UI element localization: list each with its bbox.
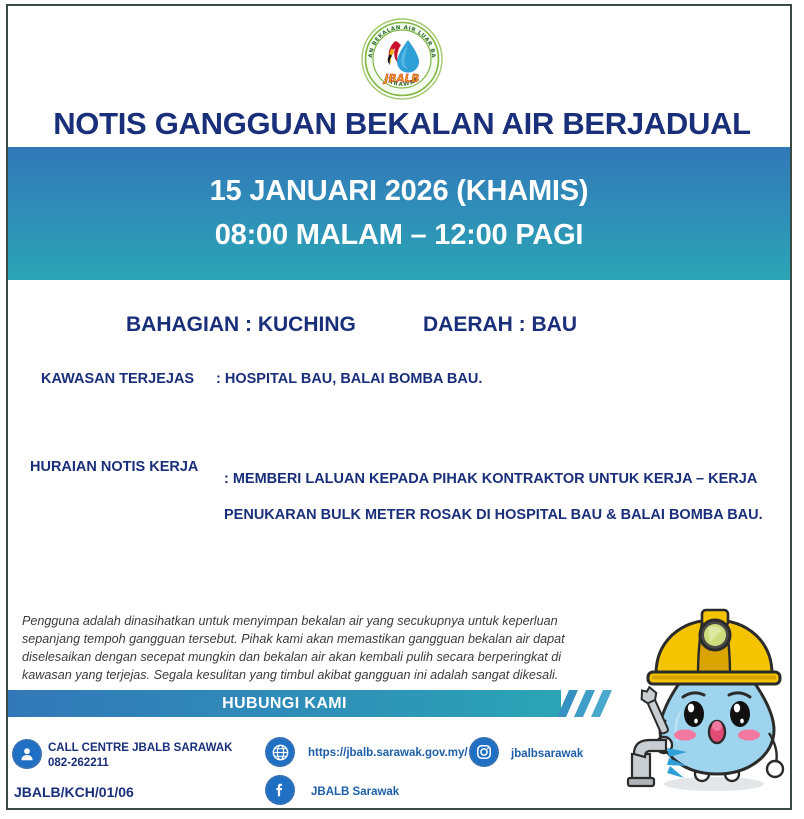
affected-area-label: KAWASAN TERJEJAS: [41, 371, 194, 387]
jbalb-logo: JABATAN BEKALAN AIR LUAR BANDAR SARAWAK …: [361, 18, 443, 100]
contact-us-title: HUBUNGI KAMI: [222, 695, 347, 713]
frame-border-bottom: [6, 808, 792, 810]
date-time-banner: 15 JANUARI 2026 (KHAMIS) 08:00 MALAM – 1…: [8, 147, 790, 280]
disclaimer-text: Pengguna adalah dinasihatkan untuk menyi…: [22, 613, 612, 685]
reference-code: JBALB/KCH/01/06: [14, 784, 134, 800]
district-label: DAERAH : BAU: [423, 313, 577, 337]
instagram-icon[interactable]: [469, 737, 499, 767]
work-description-label: HURAIAN NOTIS KERJA: [30, 459, 198, 475]
notice-date: 15 JANUARI 2026 (KHAMIS): [210, 170, 589, 214]
facebook-name[interactable]: JBALB Sarawak: [311, 785, 399, 800]
notice-poster: JABATAN BEKALAN AIR LUAR BANDAR SARAWAK …: [0, 0, 804, 819]
decorative-slashes: [561, 690, 621, 717]
page-title: NOTIS GANGGUAN BEKALAN AIR BERJADUAL: [0, 106, 804, 142]
water-droplet-mascot: [622, 602, 792, 807]
instagram-handle[interactable]: jbalbsarawak: [511, 747, 583, 762]
website-url[interactable]: https://jbalb.sarawak.gov.my/: [308, 746, 468, 761]
work-description-value: : MEMBERI LALUAN KEPADA PIHAK KONTRAKTOR…: [224, 462, 763, 533]
notice-time: 08:00 MALAM – 12:00 PAGI: [215, 214, 584, 258]
work-description-line-2: PENUKARAN BULK METER ROSAK DI HOSPITAL B…: [224, 498, 763, 534]
svg-text:JBALB: JBALB: [383, 73, 420, 85]
call-centre-phone: 082-262211: [48, 756, 232, 771]
contact-us-bar: HUBUNGI KAMI: [8, 690, 561, 717]
frame-border-top: [6, 4, 792, 6]
division-label: BAHAGIAN : KUCHING: [126, 313, 356, 337]
person-icon: [12, 739, 42, 769]
globe-icon[interactable]: [265, 737, 295, 767]
slash-3: [591, 690, 612, 717]
affected-area-value: : HOSPITAL BAU, BALAI BOMBA BAU.: [216, 371, 482, 387]
call-centre-name: CALL CENTRE JBALB SARAWAK: [48, 741, 232, 756]
call-centre-block: CALL CENTRE JBALB SARAWAK 082-262211: [48, 741, 232, 771]
facebook-icon[interactable]: [265, 775, 295, 805]
work-description-line-1: : MEMBERI LALUAN KEPADA PIHAK KONTRAKTOR…: [224, 462, 763, 498]
